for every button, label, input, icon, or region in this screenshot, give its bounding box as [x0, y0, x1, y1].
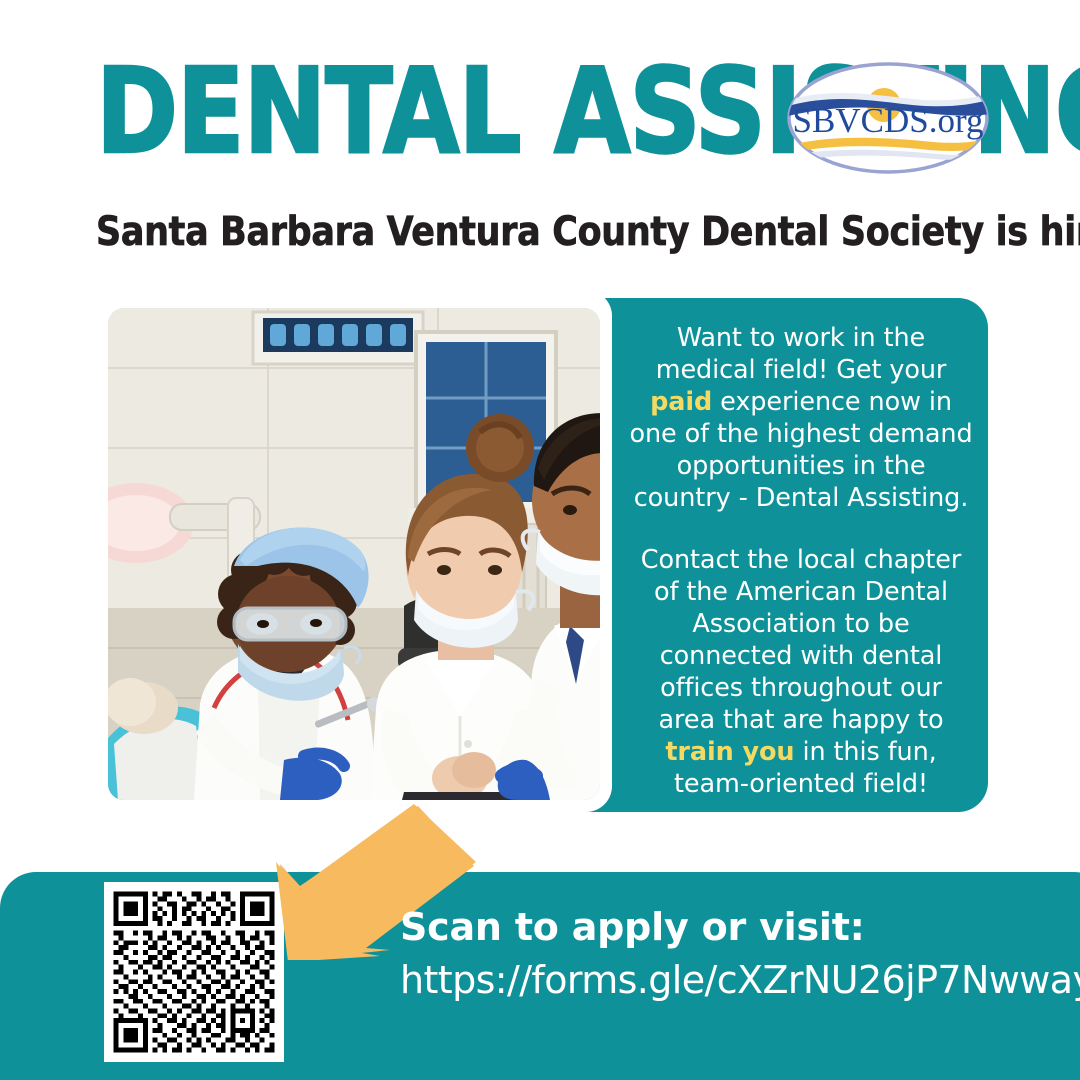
dental-team-photo [108, 308, 600, 800]
qr-code[interactable] [104, 882, 284, 1062]
application-url[interactable]: https://forms.gle/cXZrNU26jP7Nwway8 [400, 955, 1080, 1005]
paragraph-2-highlight: train you [665, 737, 794, 767]
paragraph-2-part-1: Contact the local chapter of the America… [641, 545, 961, 735]
poster-root: DENTAL ASSISTING SBVCDS.org Santa Barbar… [0, 0, 1080, 1080]
logo-wordmark-text: SBVCDS.org [793, 101, 984, 140]
subtitle: Santa Barbara Ventura County Dental Soci… [96, 209, 1080, 255]
info-panel-copy: Want to work in the medical field! Get y… [628, 322, 974, 800]
paragraph-2: Contact the local chapter of the America… [628, 544, 974, 800]
paragraph-1-part-1: Want to work in the medical field! Get y… [656, 323, 947, 385]
paragraph-1-highlight: paid [650, 387, 712, 417]
scan-label: Scan to apply or visit: [400, 903, 865, 951]
paragraph-1: Want to work in the medical field! Get y… [628, 322, 974, 514]
sbvcds-logo[interactable]: SBVCDS.org [783, 58, 993, 178]
